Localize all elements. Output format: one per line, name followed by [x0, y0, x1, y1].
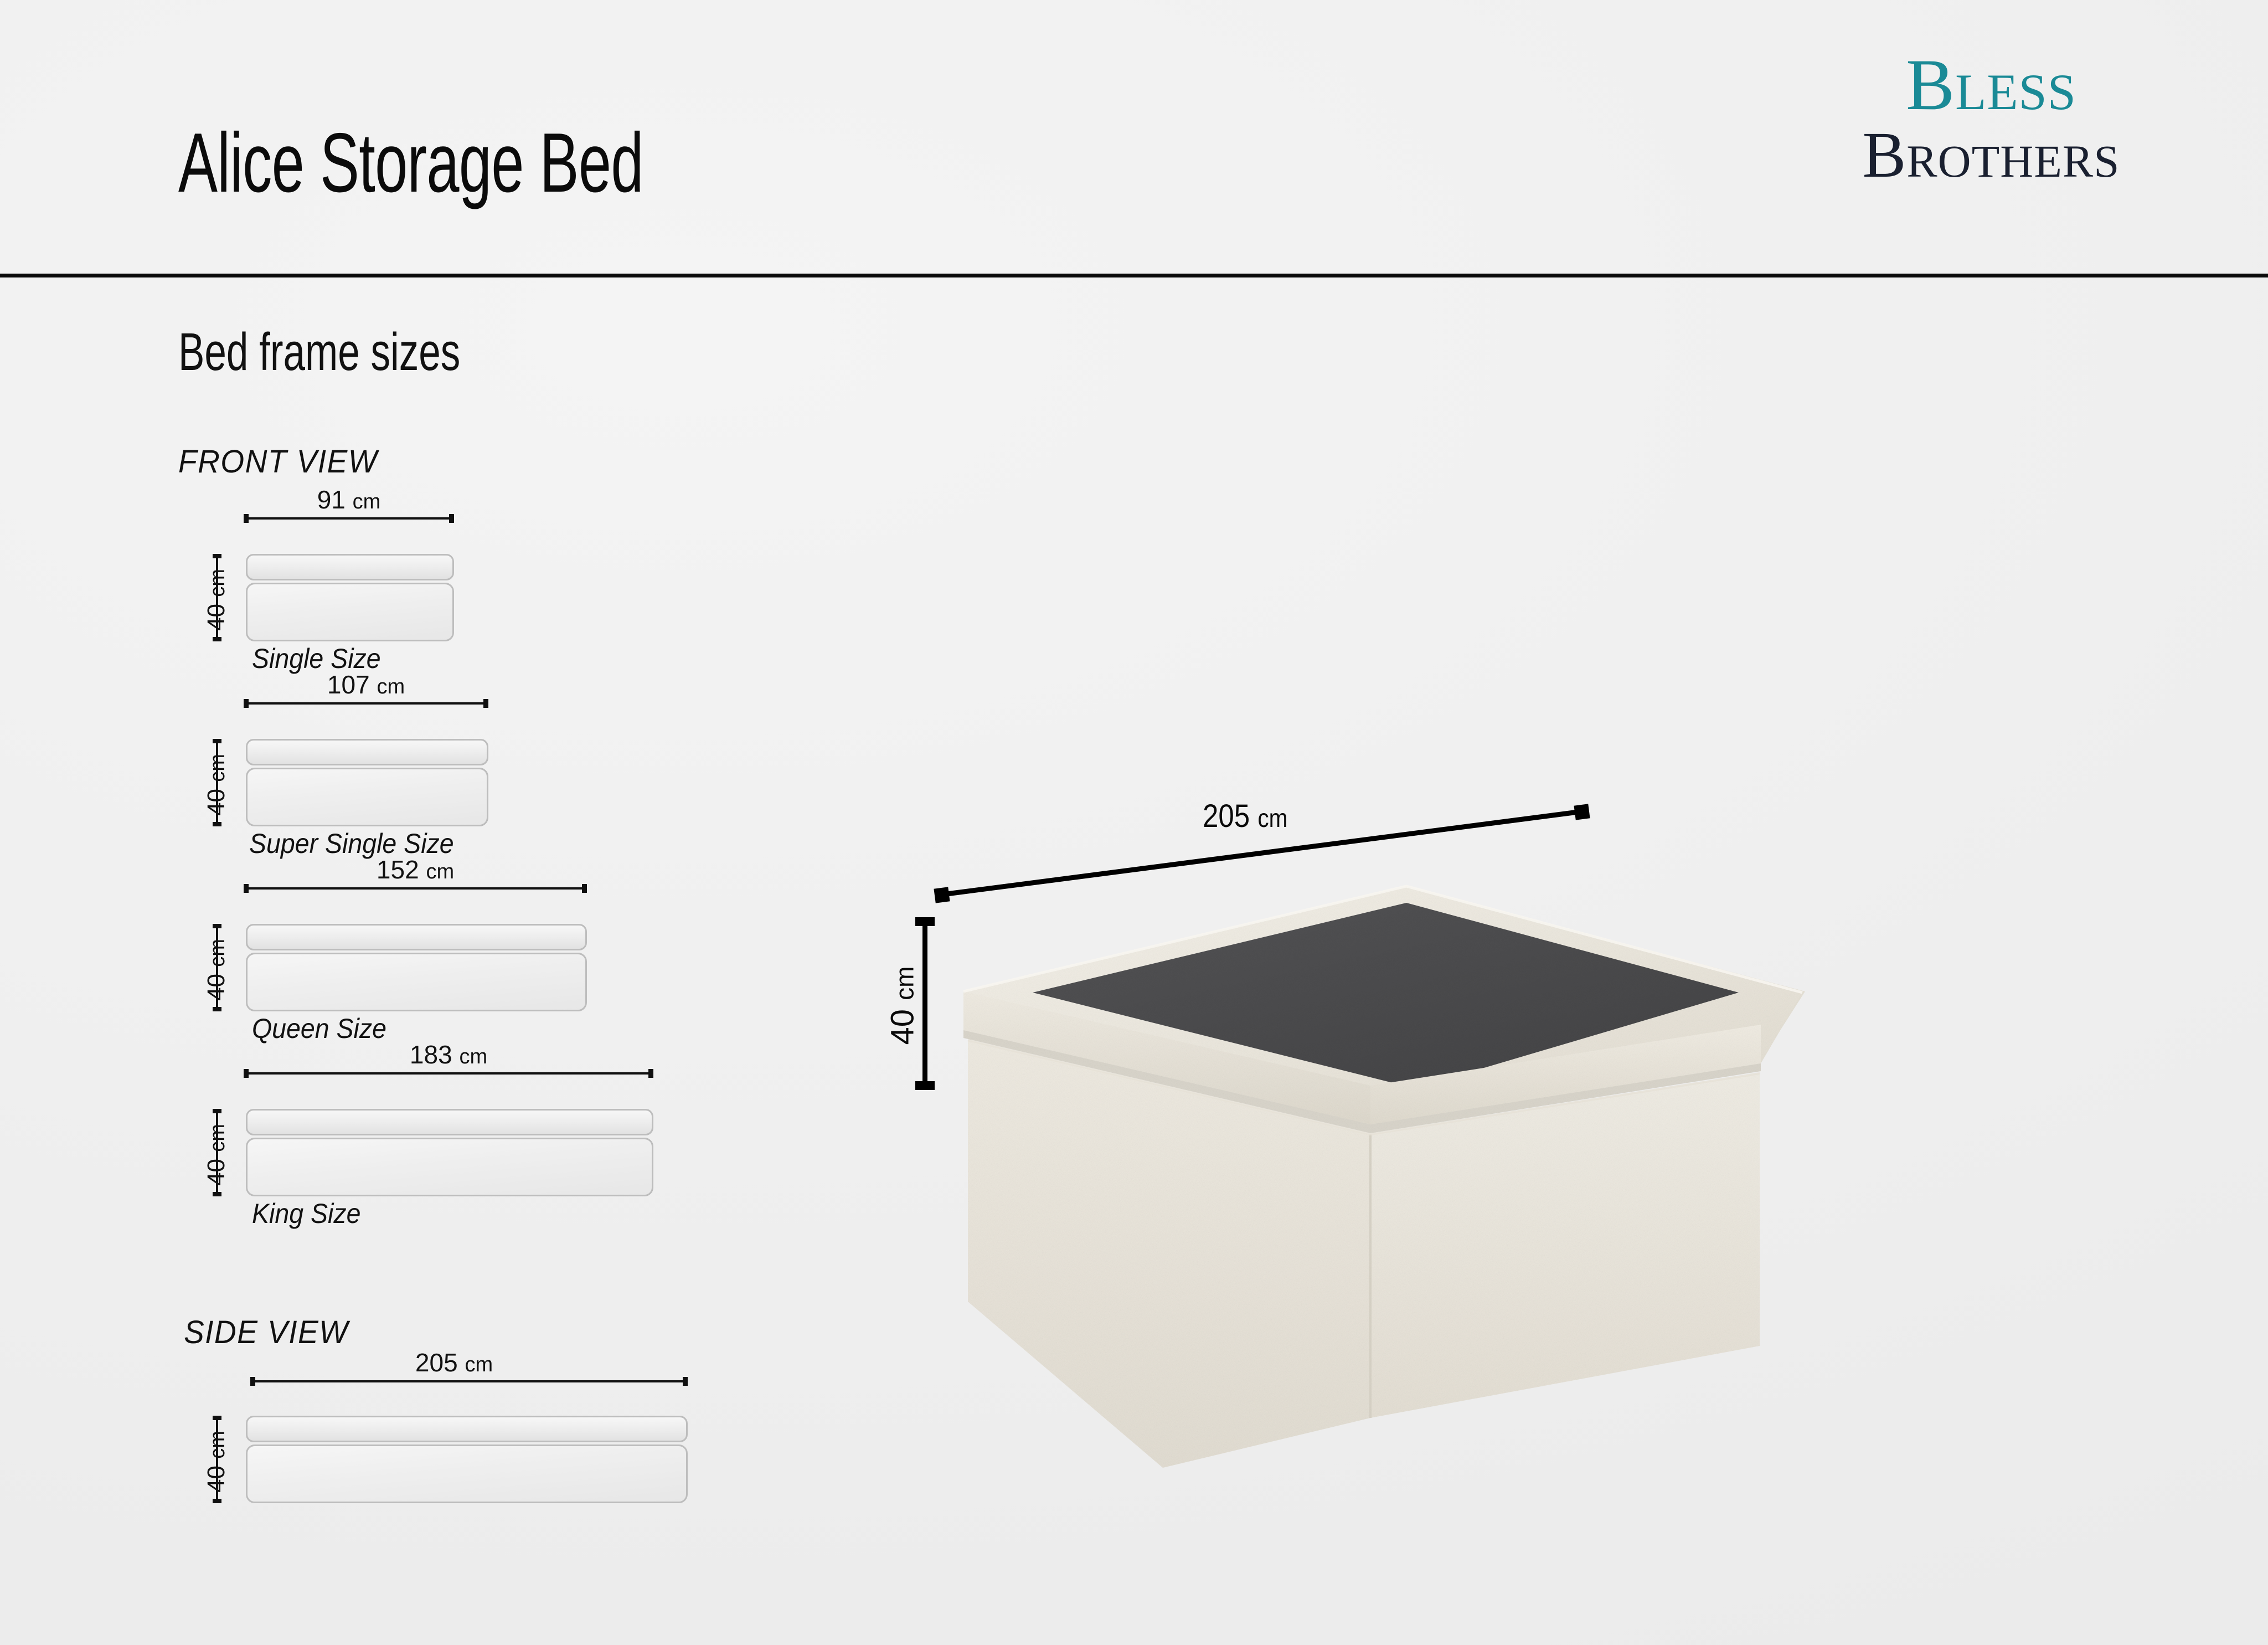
bed-lid: [246, 924, 587, 950]
bed-body: [246, 953, 587, 1011]
size-caption-king: King Size: [252, 1197, 360, 1230]
dimension-label-height-king: 40 cm: [203, 1088, 230, 1221]
dimension-label-height-side: 40 cm: [203, 1395, 230, 1528]
dimension-line-length-side: [250, 1380, 688, 1382]
bed-diagram-super-single: [246, 739, 488, 826]
logo-text-brothers: Brothers: [1819, 124, 2163, 186]
section-heading: Bed frame sizes: [178, 326, 460, 379]
bed-diagram-side: [246, 1416, 688, 1503]
header-divider: [0, 274, 2268, 277]
front-view-label: FRONT VIEW: [178, 443, 378, 480]
bed-diagram-queen: [246, 924, 587, 1011]
bed-lid: [246, 739, 488, 765]
page-title: Alice Storage Bed: [178, 121, 643, 205]
dimension-line-width-super-single: [244, 702, 488, 705]
bed-lid: [246, 1416, 688, 1442]
bed-diagram-single: [246, 554, 454, 641]
dimension-label-width-single: 91 cm: [317, 485, 381, 515]
bed-diagram-king: [246, 1109, 653, 1196]
size-caption-queen: Queen Size: [252, 1012, 386, 1045]
logo-text-bless: Bless: [1819, 50, 2163, 120]
bed-body: [246, 768, 488, 826]
dimension-line-height-render: [922, 921, 927, 1087]
page-header: Alice Storage Bed Bless Brothers: [0, 0, 2268, 275]
bed-body: [246, 1138, 653, 1196]
bed-body: [246, 1444, 688, 1503]
dimension-label-length-render: 205 cm: [1203, 798, 1287, 835]
dimension-line-width-single: [244, 517, 454, 520]
dimension-label-height-single: 40 cm: [203, 533, 230, 666]
dimension-label-width-queen: 152 cm: [377, 855, 454, 885]
dimension-label-height-queen: 40 cm: [203, 903, 230, 1036]
bed-3d-render: [941, 864, 2115, 1307]
brand-logo: Bless Brothers: [1819, 50, 2163, 186]
dimension-line-width-king: [244, 1072, 653, 1075]
bed-lid: [246, 1109, 653, 1135]
dimension-label-width-super-single: 107 cm: [327, 670, 405, 700]
dimension-label-length-side: 205 cm: [415, 1348, 493, 1377]
side-view-label: SIDE VIEW: [184, 1314, 349, 1351]
bed-body: [246, 583, 454, 641]
dimension-label-height-render: 40 cm: [884, 923, 921, 1089]
bed-lid: [246, 554, 454, 580]
dimension-label-width-king: 183 cm: [410, 1040, 487, 1070]
dimension-line-width-queen: [244, 887, 587, 890]
dimension-label-height-super-single: 40 cm: [203, 718, 230, 851]
